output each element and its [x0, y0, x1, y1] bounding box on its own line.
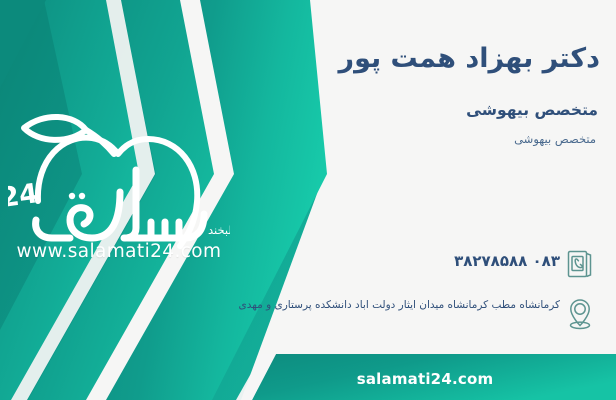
- footer-website[interactable]: salamati24.com: [300, 370, 550, 388]
- specialty-secondary: متخصص بیهوشی: [176, 132, 596, 147]
- brand-number-24: 24: [8, 178, 40, 214]
- svg-text:24: 24: [8, 178, 40, 214]
- card-content: دکتر بهزاد همت پور متخصص بیهوشی متخصص بی…: [182, 0, 602, 400]
- phone-row[interactable]: ۳۸۲۷۸۵۸۸ ۰۸۳: [182, 244, 600, 284]
- phone-number: ۳۸۲۷۸۵۸۸ ۰۸۳: [182, 244, 560, 270]
- business-card: 24 به راحتی یک لبخند www.salamati24.com …: [0, 0, 616, 400]
- brand-wordmark: [36, 170, 204, 238]
- phonebook-icon: [560, 244, 600, 284]
- address-text: کرمانشاه مطب کرمانشاه میدان ایثار دولت ا…: [182, 294, 560, 313]
- specialty-primary: متخصص بیهوشی: [178, 100, 598, 120]
- address-row[interactable]: کرمانشاه مطب کرمانشاه میدان ایثار دولت ا…: [182, 294, 600, 334]
- contact-list: ۳۸۲۷۸۵۸۸ ۰۸۳ کرمانشاه مطب کرمانشاه میدان…: [182, 244, 600, 344]
- doctor-name: دکتر بهزاد همت پور: [180, 42, 600, 76]
- location-pin-icon: [560, 294, 600, 334]
